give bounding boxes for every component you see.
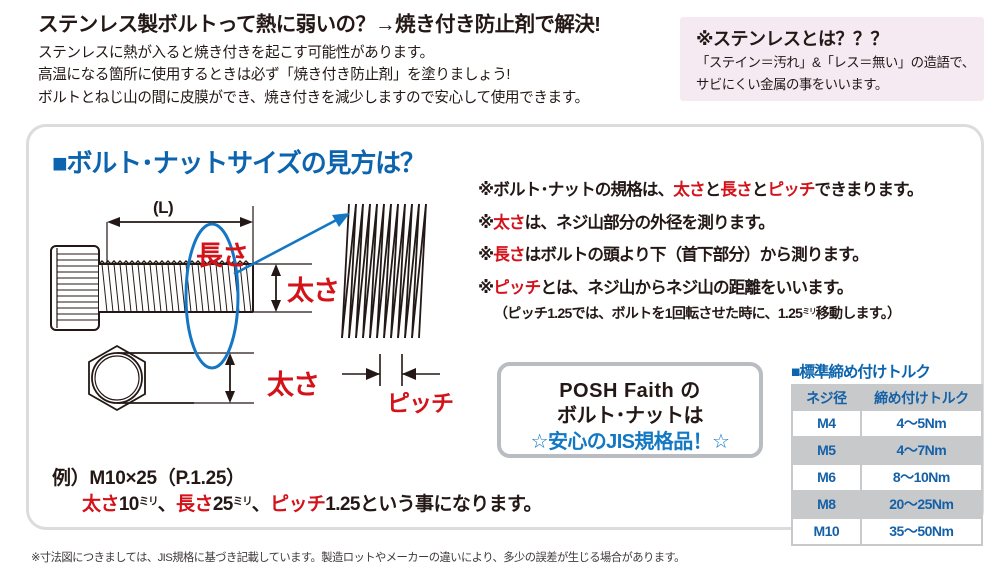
bullet-item-3: ※長さはボルトの頭より下（首下部分）から測ります。 bbox=[478, 247, 984, 264]
text-run: 1.25という事になります。 bbox=[325, 494, 542, 515]
label-pitch: ピッチ bbox=[387, 392, 453, 415]
torque-cell-value: 35〜50Nm bbox=[862, 519, 981, 544]
example-line-1: 例）M10×25（P.1.25） bbox=[52, 463, 245, 490]
header-line-1: ステンレスに熱が入ると焼き付きを起こす可能性があります。 bbox=[38, 42, 678, 65]
unit-superscript: ミリ bbox=[802, 307, 815, 316]
header-line-3: ボルトとねじ山の間に皮膜ができ、焼き付きを減少しますので安心して使用できます。 bbox=[38, 87, 678, 110]
label-futosa-bolt: 太さ bbox=[287, 278, 339, 305]
torque-table-block: ■標準締め付けトルク ネジ径 締め付けトルク M44〜5NmM54〜7NmM68… bbox=[791, 360, 983, 546]
torque-cell-size: M4 bbox=[793, 411, 860, 436]
keyword-highlight: 長さ bbox=[176, 494, 213, 515]
stainless-definition-line-2: サビにくい金属の事をいいます。 bbox=[696, 73, 888, 93]
bullet-mark: ※ bbox=[478, 245, 493, 264]
bullet-mark: ※ bbox=[478, 213, 493, 232]
table-row: M54〜7Nm bbox=[793, 438, 981, 463]
torque-cell-size: M6 bbox=[793, 465, 860, 490]
table-row: M820〜25Nm bbox=[793, 492, 981, 517]
bullet-item-2: ※太さは、ネジ山部分の外径を測ります。 bbox=[478, 215, 984, 232]
torque-cell-value: 4〜7Nm bbox=[862, 438, 981, 463]
infographic-root: ステンレス製ボルトって熱に弱いの？→焼き付き防止剤で解決! ステンレスに熱が入る… bbox=[0, 0, 1000, 572]
torque-cell-size: M8 bbox=[793, 492, 860, 517]
text-run: と bbox=[705, 180, 721, 199]
label-nagasa: 長さ bbox=[196, 243, 248, 270]
text-run: は、ネジ山部分の外径を測ります。 bbox=[525, 213, 774, 232]
keyword-highlight: ピッチ bbox=[493, 278, 540, 297]
text-run: はボルトの頭より下（首下部分）から測ります。 bbox=[525, 245, 868, 264]
stainless-definition-box: ※ステンレスとは？？？ 「ステイン＝汚れ」&「レス＝無い」の造語で、 サビにくい… bbox=[680, 17, 984, 101]
keyword-highlight: 太さ bbox=[82, 494, 119, 515]
table-row: M44〜5Nm bbox=[793, 411, 981, 436]
text-run: 10 bbox=[119, 494, 139, 515]
text-run: 、 bbox=[252, 494, 270, 515]
text-run: 、 bbox=[158, 494, 176, 515]
bullet-sub-note: （ピッチ1.25では、ボルトを1回転させた時に、1.25ミリ移動します。） bbox=[494, 306, 984, 320]
text-run: と bbox=[752, 180, 768, 199]
torque-cell-size: M10 bbox=[793, 519, 860, 544]
footnote: ※寸法図につきましては、JIS規格に基づき記載しています。製造ロットやメーカーの… bbox=[31, 549, 685, 565]
torque-table-header-row: ネジ径 締め付けトルク bbox=[793, 386, 981, 409]
stainless-definition-line-1: 「ステイン＝汚れ」&「レス＝無い」の造語で、 bbox=[696, 51, 975, 71]
example-line-2: 太さ10ミリ、長さ25ミリ、ピッチ1.25という事になります。 bbox=[82, 489, 542, 516]
bullet-item-1: ※ボルト･ナットの規格は、太さと長さとピッチできまります。 bbox=[478, 182, 984, 199]
spec-bullet-list: ※ボルト･ナットの規格は、太さと長さとピッチできまります。 ※太さは、ネジ山部分… bbox=[478, 182, 984, 320]
bullet-mark: ※ bbox=[478, 278, 493, 297]
page-title: ■ボルト･ナットサイズの見方は？ bbox=[52, 143, 425, 180]
text-run: とは、ネジ山からネジ山の距離をいいます。 bbox=[540, 278, 852, 297]
torque-col-value: 締め付けトルク bbox=[862, 386, 981, 409]
torque-cell-size: M5 bbox=[793, 438, 860, 463]
torque-table-title: ■標準締め付けトルク bbox=[791, 360, 983, 382]
text-run: ボルト･ナットの規格は、 bbox=[493, 180, 673, 199]
table-row: M68〜10Nm bbox=[793, 465, 981, 490]
posh-faith-box: POSH Faith の ボルト･ナットは ☆安心のJIS規格品！☆ bbox=[497, 362, 763, 458]
text-run: 25 bbox=[213, 494, 233, 515]
star-right-icon: ☆ bbox=[712, 431, 729, 453]
header-line-2: 高温になる箇所に使用するときは必ず「焼き付き防止剤」を塗りましょう! bbox=[38, 64, 678, 87]
keyword-highlight: 長さ bbox=[720, 180, 751, 199]
length-dimension-label: (L) bbox=[153, 198, 173, 218]
header-block: ステンレス製ボルトって熱に弱いの？→焼き付き防止剤で解決! ステンレスに熱が入る… bbox=[38, 14, 678, 109]
table-row: M1035〜50Nm bbox=[793, 519, 981, 544]
torque-table-body: M44〜5NmM54〜7NmM68〜10NmM820〜25NmM1035〜50N… bbox=[793, 411, 981, 544]
torque-col-size: ネジ径 bbox=[793, 386, 860, 409]
torque-cell-value: 20〜25Nm bbox=[862, 492, 981, 517]
keyword-highlight: ピッチ bbox=[270, 494, 325, 515]
stainless-definition-title: ※ステンレスとは？？？ bbox=[696, 25, 888, 51]
text-run: ミリ bbox=[139, 496, 158, 507]
torque-cell-value: 4〜5Nm bbox=[862, 411, 981, 436]
bullet-item-4: ※ピッチとは、ネジ山からネジ山の距離をいいます。 bbox=[478, 280, 984, 297]
header-title: ステンレス製ボルトって熱に弱いの？→焼き付き防止剤で解決! bbox=[38, 14, 678, 37]
torque-cell-value: 8〜10Nm bbox=[862, 465, 981, 490]
label-futosa-nut: 太さ bbox=[267, 372, 319, 399]
posh-line-3: ☆安心のJIS規格品！☆ bbox=[501, 425, 759, 454]
header-body: ステンレスに熱が入ると焼き付きを起こす可能性があります。 高温になる箇所に使用す… bbox=[38, 42, 678, 110]
keyword-highlight: 太さ bbox=[673, 180, 704, 199]
posh-jis-text: 安心のJIS規格品！ bbox=[548, 431, 712, 453]
star-left-icon: ☆ bbox=[531, 431, 548, 453]
keyword-highlight: 長さ bbox=[493, 245, 524, 264]
torque-table: ネジ径 締め付けトルク M44〜5NmM54〜7NmM68〜10NmM820〜2… bbox=[791, 384, 983, 546]
bolt-diagram: (L) 長さ 太さ 太さ ピッチ bbox=[44, 186, 484, 456]
text-run: （ピッチ1.25では、ボルトを1回転させた時に、1.25 bbox=[494, 305, 802, 321]
text-run: 移動します。） bbox=[816, 305, 901, 321]
bullet-mark: ※ bbox=[478, 180, 493, 199]
keyword-highlight: 太さ bbox=[493, 213, 524, 232]
text-run: できまります。 bbox=[815, 180, 923, 199]
posh-line-2: ボルト･ナットは bbox=[501, 399, 759, 428]
keyword-highlight: ピッチ bbox=[767, 180, 814, 199]
text-run: ミリ bbox=[233, 496, 252, 507]
